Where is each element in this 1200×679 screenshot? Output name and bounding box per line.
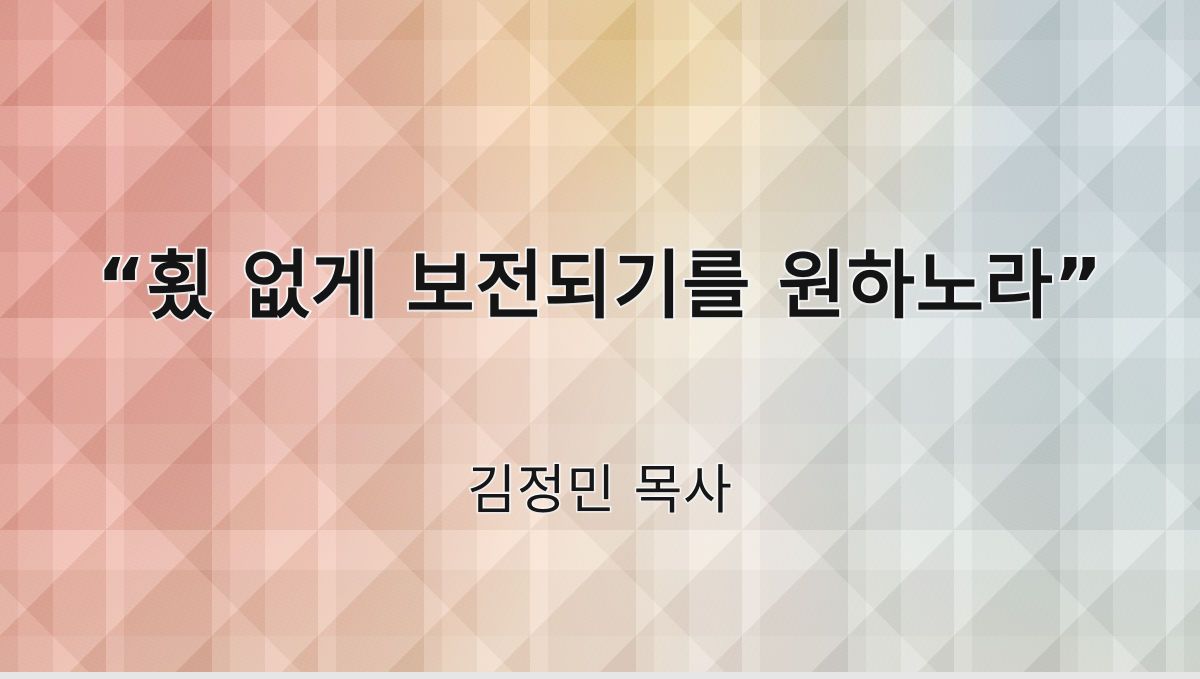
- sermon-title-slide: “횠 없게 보전되기를 원하노라” 김정민 목사: [0, 0, 1200, 679]
- slide-title: “횠 없게 보전되기를 원하노라”: [0, 247, 1200, 327]
- bottom-letterbox-strip: [0, 672, 1200, 679]
- slide-text-container: “횠 없게 보전되기를 원하노라” 김정민 목사: [0, 0, 1200, 679]
- slide-speaker-name: 김정민 목사: [0, 462, 1200, 520]
